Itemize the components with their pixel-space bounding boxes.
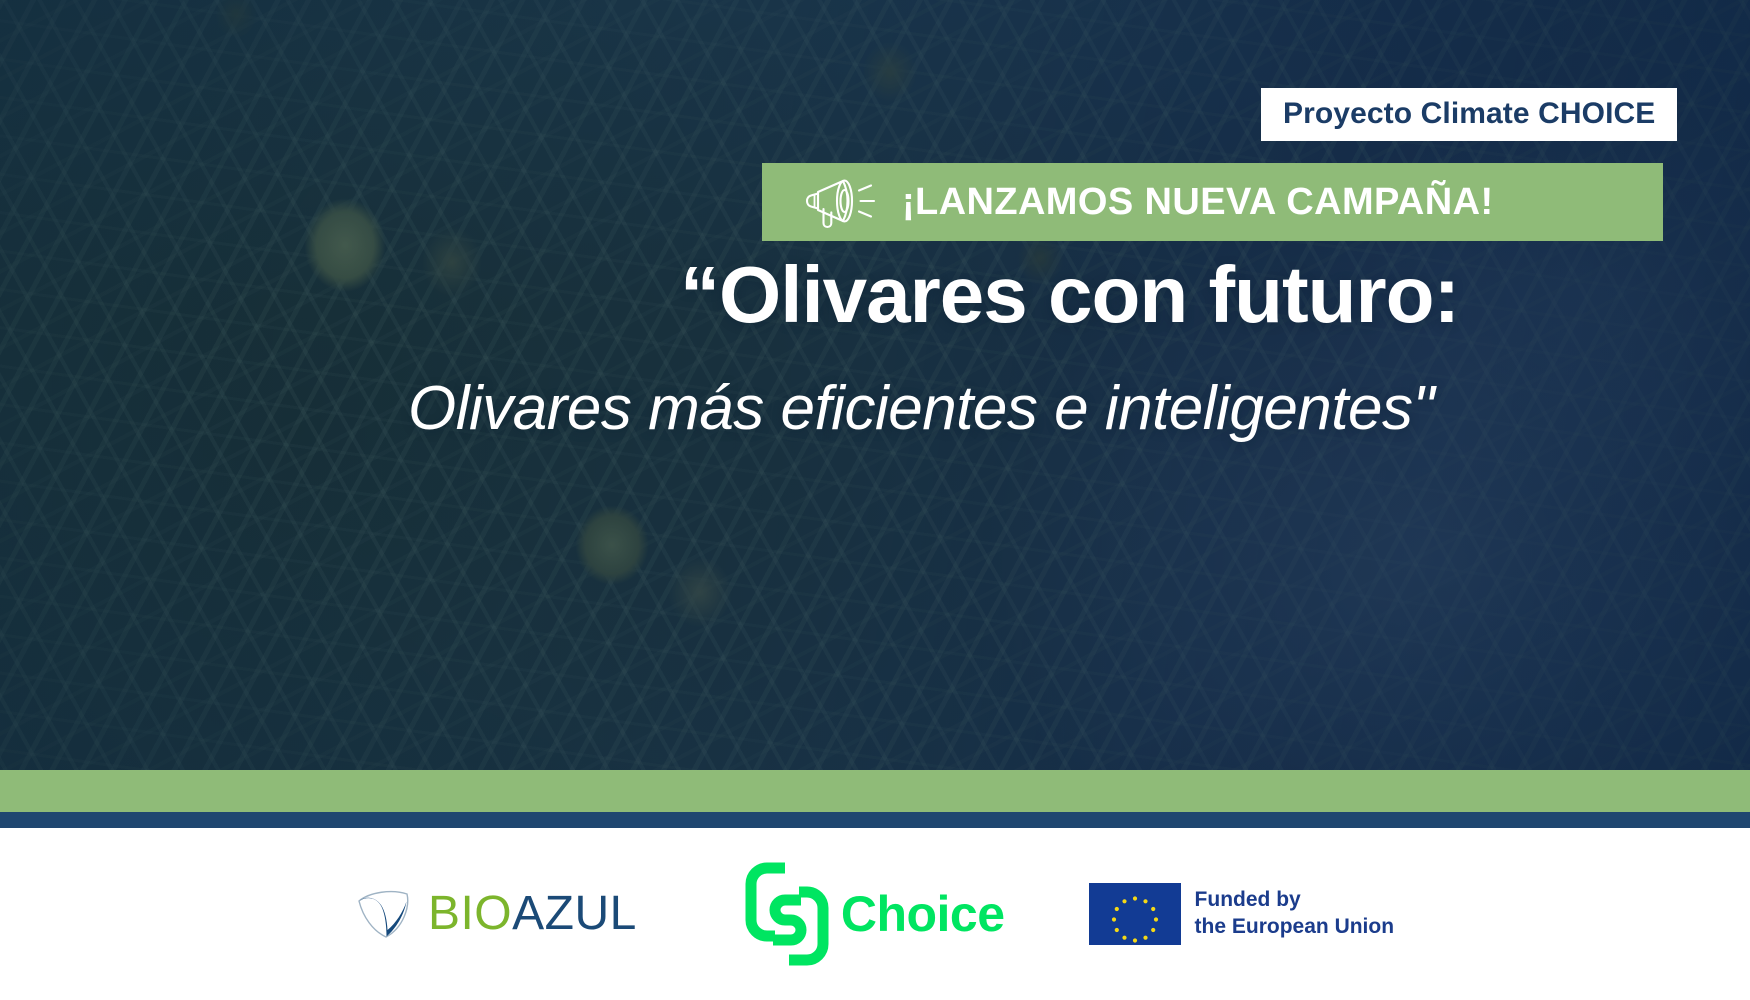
bioazul-wordmark: BIOAZUL bbox=[428, 890, 637, 938]
navy-divider-bar bbox=[0, 812, 1750, 828]
logo-choice: Choice bbox=[745, 862, 1005, 966]
megaphone-icon bbox=[796, 173, 880, 231]
eu-funding-line-2: the European Union bbox=[1195, 914, 1395, 941]
eu-funding-line-1: Funded by bbox=[1195, 887, 1395, 914]
leaf-swoosh-icon bbox=[356, 887, 414, 941]
campaign-label: ¡LANZAMOS NUEVA CAMPAÑA! bbox=[902, 183, 1494, 221]
logo-bioazul: BIOAZUL bbox=[356, 887, 637, 941]
choice-wordmark: Choice bbox=[841, 889, 1005, 939]
headline-line-2: Olivares más eficientes e inteligentes" bbox=[408, 378, 1698, 440]
project-name-chip: Proyecto Climate CHOICE bbox=[1261, 88, 1677, 141]
choice-link-icon bbox=[745, 862, 829, 966]
campaign-announcement-strip: ¡LANZAMOS NUEVA CAMPAÑA! bbox=[762, 163, 1663, 241]
headline-line-1: “Olivares con futuro: bbox=[680, 255, 1690, 335]
logo-european-union: Funded by the European Union bbox=[1089, 883, 1395, 945]
footer-logo-bar: BIOAZUL Choice bbox=[0, 828, 1750, 1000]
green-divider-bar bbox=[0, 770, 1750, 812]
logo-row: BIOAZUL Choice bbox=[356, 862, 1394, 966]
bioazul-word-bio: BIO bbox=[428, 887, 512, 940]
eu-flag-icon bbox=[1089, 883, 1181, 945]
eu-funding-text: Funded by the European Union bbox=[1195, 887, 1395, 941]
bioazul-word-azul: AZUL bbox=[512, 887, 637, 940]
campaign-banner: Proyecto Climate CHOICE ¡LANZAMOS NUEVA … bbox=[0, 0, 1750, 1000]
